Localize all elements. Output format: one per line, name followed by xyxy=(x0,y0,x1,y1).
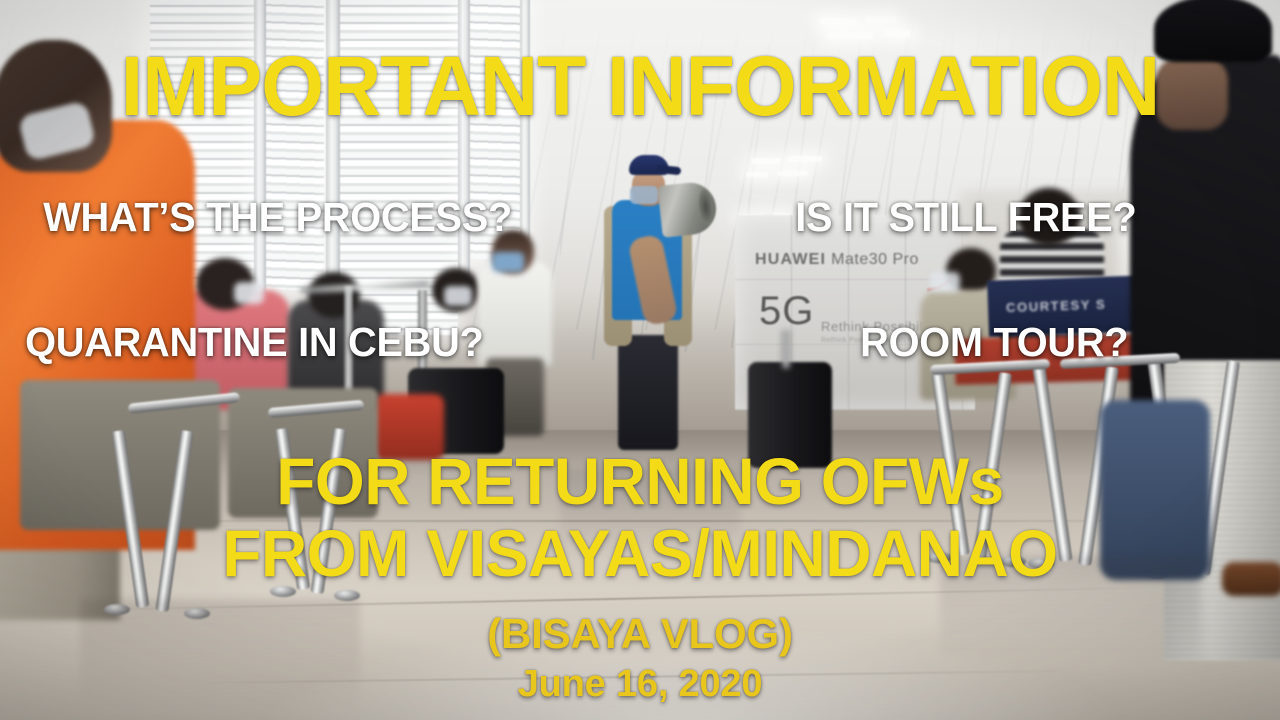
question-still-free: IS IT STILL FREE? xyxy=(795,197,1136,238)
question-process: WHAT’S THE PROCESS? xyxy=(43,197,512,238)
main-line-visayas-mindanao: FROM VISAYAS/MINDANAO xyxy=(19,520,1261,587)
thumbnail-headline: IMPORTANT INFORMATION xyxy=(26,44,1255,128)
video-thumbnail: HUAWEI Mate30 Pro 5G Rethink Possibiliti… xyxy=(0,0,1280,720)
main-line-returning-ofws: FOR RETURNING OFWs xyxy=(19,448,1261,515)
question-room-tour: ROOM TOUR? xyxy=(860,322,1128,363)
thumbnail-date: June 16, 2020 xyxy=(0,665,1280,703)
question-quarantine-cebu: QUARANTINE IN CEBU? xyxy=(25,322,483,363)
text-overlay: IMPORTANT INFORMATION WHAT’S THE PROCESS… xyxy=(0,0,1280,720)
parenthetical-bisaya-vlog: (BISAYA VLOG) xyxy=(0,613,1280,655)
